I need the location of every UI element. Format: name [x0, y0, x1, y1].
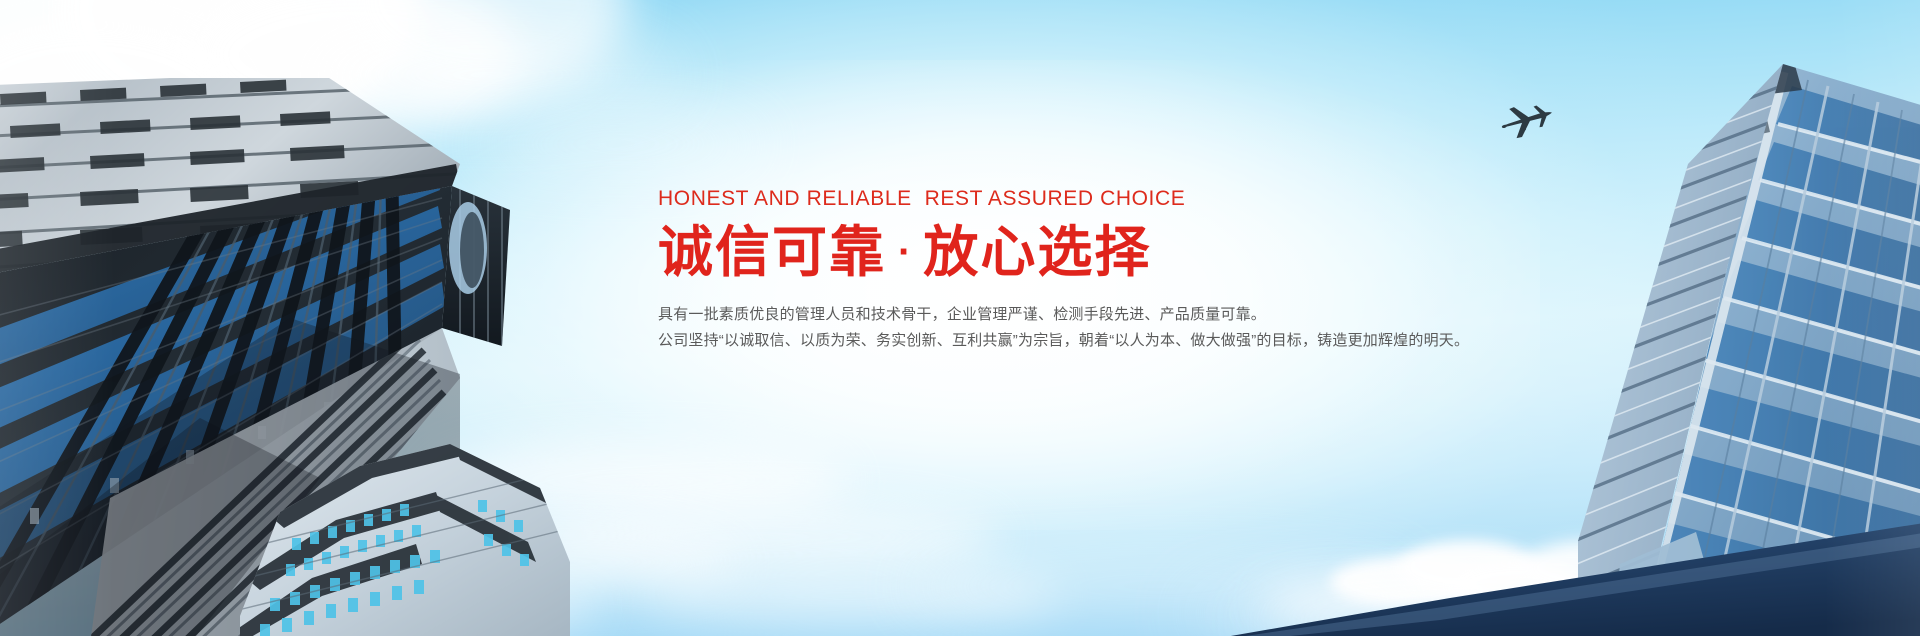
- banner-headline: 诚信可靠·放心选择: [658, 225, 1458, 280]
- headline-right: 放心选择: [923, 221, 1151, 283]
- banner-paragraph-line-1: 具有一批素质优良的管理人员和技术骨干，企业管理严谨、检测手段先进、产品质量可靠。: [658, 302, 1458, 328]
- banner-copy: HONEST AND RELIABLE REST ASSURED CHOICE …: [658, 188, 1458, 354]
- headline-left: 诚信可靠: [658, 221, 886, 283]
- banner-eyebrow: HONEST AND RELIABLE REST ASSURED CHOICE: [658, 188, 1458, 209]
- banner-paragraph-line-2: 公司坚持“以诚取信、以质为荣、务实创新、互利共赢”为宗旨，朝着“以人为本、做大做…: [658, 328, 1458, 354]
- hero-banner: HONEST AND RELIABLE REST ASSURED CHOICE …: [0, 0, 1920, 636]
- headline-separator: ·: [886, 230, 923, 274]
